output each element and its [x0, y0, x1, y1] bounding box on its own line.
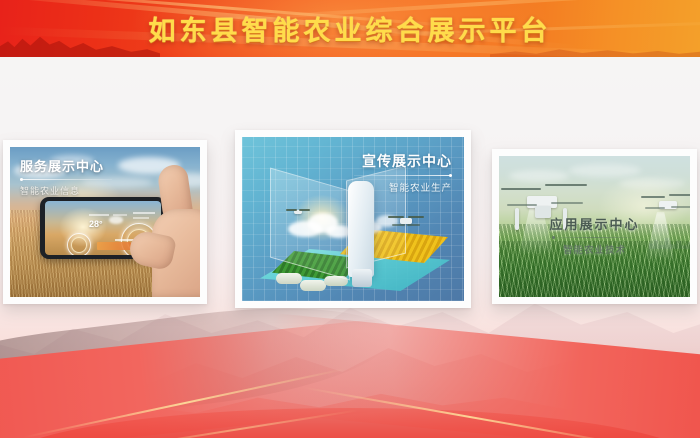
cloud-shape [376, 215, 398, 227]
drone-rotor [501, 188, 541, 190]
hud-line [89, 214, 109, 216]
hay-bale [300, 280, 326, 291]
card-subtitle: 智能农业技术 [499, 242, 690, 256]
cloud-shape [619, 178, 685, 189]
phone-base [352, 269, 372, 287]
card-application-center[interactable]: 应用展示中心 智能农业技术 [492, 149, 697, 304]
divider-dot [20, 178, 23, 181]
drone-rotor [641, 196, 665, 198]
card-application-center-caption: 应用展示中心 智能农业技术 [499, 214, 690, 256]
weather-cloud-icon [109, 216, 123, 224]
hud-line [133, 212, 155, 214]
cloud-shape [569, 164, 641, 177]
card-title: 宣传展示中心 [354, 151, 452, 171]
card-subtitle: 智能农业信息 [20, 184, 112, 197]
card-promotion-center[interactable]: 宣传展示中心 智能农业生产 [235, 130, 471, 308]
drone-rotor [645, 207, 665, 209]
card-service-center-image: 28° [10, 147, 200, 297]
drone-rotor [671, 206, 690, 208]
page-title: 如东县智能农业综合展示平台 [0, 0, 700, 57]
card-title: 服务展示中心 [20, 156, 112, 175]
card-service-center-caption: 服务展示中心 智能农业信息 [20, 156, 112, 197]
upright-smartphone [348, 181, 374, 277]
caption-divider [552, 237, 638, 238]
cloud-shape [509, 170, 569, 182]
hay-bale [276, 273, 302, 284]
drone-body [659, 201, 677, 209]
card-title: 应用展示中心 [499, 214, 690, 233]
drone-rotor [545, 184, 587, 186]
weather-temperature: 28° [89, 219, 103, 229]
hud-chip [97, 242, 131, 250]
caption-divider [354, 175, 452, 176]
divider-dot [552, 236, 555, 239]
header-banner: 如东县智能农业综合展示平台 [0, 0, 700, 57]
drone-rotor [551, 202, 583, 204]
hud-ring-left-inner [71, 237, 87, 253]
card-promotion-center-caption: 宣传展示中心 智能农业生产 [354, 151, 452, 194]
presentation-page: 如东县智能农业综合展示平台 28° [0, 0, 700, 438]
card-service-center[interactable]: 28° [3, 140, 207, 304]
card-promotion-center-image: 宣传展示中心 智能农业生产 [242, 137, 464, 301]
divider-dot [449, 174, 452, 177]
card-subtitle: 智能农业生产 [354, 180, 452, 194]
hud-line [133, 217, 149, 219]
drone-rotor [669, 194, 690, 196]
caption-divider [20, 179, 112, 180]
card-application-center-image: 应用展示中心 智能农业技术 [499, 156, 690, 297]
